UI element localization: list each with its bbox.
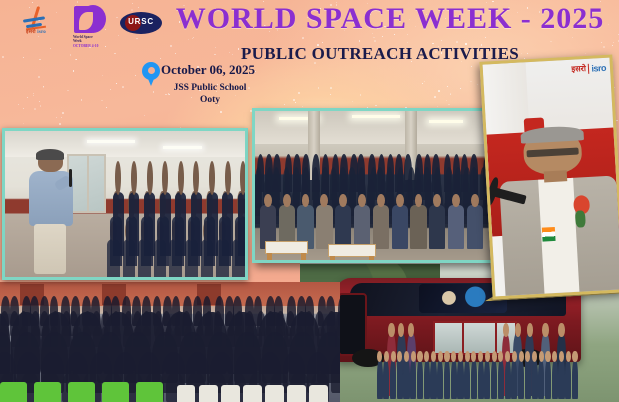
wsw-line3: OCTOBER 4-10 <box>73 44 98 48</box>
boutonniere-icon <box>573 195 590 214</box>
speaker-figure <box>27 151 75 274</box>
logo-row: इसरो isro World Space Week OCTOBER 4-10 … <box>14 5 162 49</box>
photo-auditorium-audience: Packed auditorium with dignitaries seate… <box>252 108 500 263</box>
world-space-week-poster: इसरो isro World Space Week OCTOBER 4-10 … <box>0 0 619 402</box>
isro-logo: इसरो isro <box>14 5 58 41</box>
left-photo-audience <box>101 195 245 277</box>
poster-subtitle: PUBLIC OUTREACH ACTIVITIES <box>190 44 570 64</box>
wsw-logo-caption: World Space Week OCTOBER 4-10 <box>73 35 106 48</box>
bus-children-group <box>377 345 581 399</box>
photo-isro-official-at-podium: इसरो isro ISRO official speaking at a po… <box>479 54 619 299</box>
venue-city: Ooty <box>150 94 270 106</box>
isro-banner-english: isro <box>591 62 606 73</box>
ursc-label: URSC <box>120 17 162 26</box>
event-date: October 06, 2025 <box>161 62 255 78</box>
isro-logo-hindi: इसरो <box>26 30 36 35</box>
ursc-logo: URSC <box>120 10 162 38</box>
isro-logo-text: इसरो isro <box>14 30 58 36</box>
isro-logo-english: isro <box>37 30 46 35</box>
indian-flag-pin-icon <box>542 227 556 241</box>
isro-official-figure <box>497 127 619 296</box>
audience-front-rows <box>0 335 340 402</box>
event-venue: JSS Public School Ooty <box>150 82 270 106</box>
photo-students-audience-rear: Rear view of a large student audience se… <box>0 282 340 402</box>
world-space-week-logo: World Space Week OCTOBER 4-10 <box>72 5 106 49</box>
microphone-icon <box>69 169 72 187</box>
isro-banner-logo: इसरो isro <box>571 62 606 75</box>
venue-school-name: JSS Public School <box>150 82 270 94</box>
poster-title: WORLD SPACE WEEK - 2025 <box>170 2 610 36</box>
isro-banner-hindi: इसरो <box>571 63 586 75</box>
photo-speaker-with-microphone: Speaker addressing seated students in a … <box>2 128 248 280</box>
